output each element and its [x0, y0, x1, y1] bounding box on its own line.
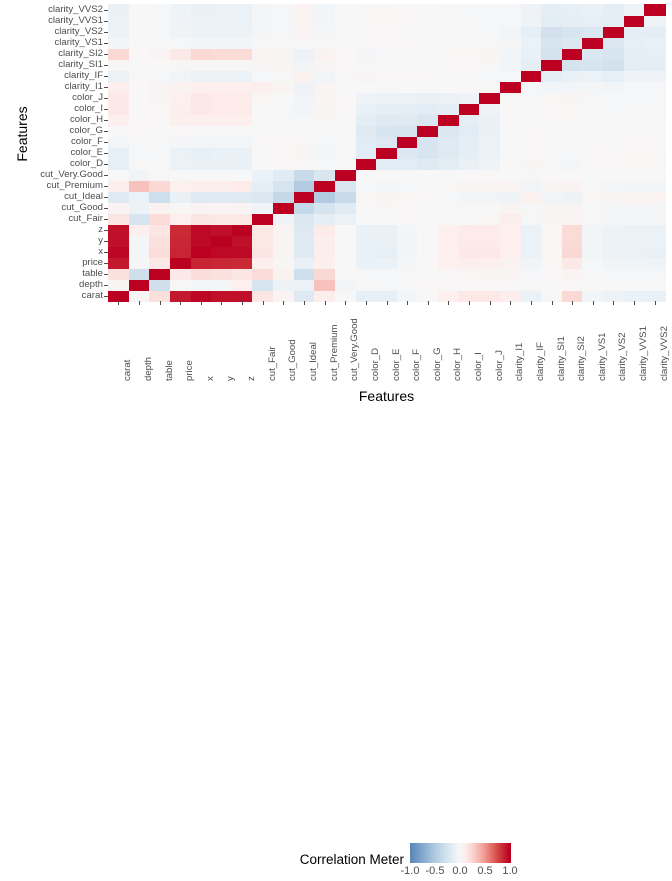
x-axis-tick-mark	[283, 301, 284, 305]
x-axis-tick-mark	[221, 301, 222, 305]
legend-tick-label: 1.0	[495, 865, 525, 877]
x-axis-tick-mark	[510, 301, 511, 305]
x-axis-tick-label: z	[246, 376, 257, 381]
legend-title: Correlation Meter	[192, 852, 404, 867]
x-axis-tick-mark	[242, 301, 243, 305]
x-axis-tick-label: clarity_SI1	[556, 336, 567, 381]
x-axis-tick-label: price	[184, 360, 195, 381]
x-axis-tick-mark	[531, 301, 532, 305]
legend: Correlation Meter -1.0-0.50.00.51.0	[0, 415, 672, 475]
x-axis-tick-label: cut_Fair	[267, 346, 278, 381]
x-axis-tick-label: color_E	[391, 348, 402, 381]
x-axis-tick-label: clarity_I1	[514, 343, 525, 381]
x-axis-tick-mark	[655, 301, 656, 305]
x-axis-tick-label: clarity_VS1	[597, 332, 608, 381]
x-axis-tick-label: x	[205, 376, 216, 381]
legend-color-segment	[509, 843, 511, 863]
legend-tick-labels: -1.0-0.50.00.51.0	[380, 865, 540, 881]
x-axis-tick-mark	[325, 301, 326, 305]
x-axis-tick-label: color_D	[370, 348, 381, 381]
x-axis-tick-label: color_H	[452, 348, 463, 381]
x-axis-tick-mark	[345, 301, 346, 305]
x-axis-tick-mark	[613, 301, 614, 305]
x-axis-tick-mark	[448, 301, 449, 305]
x-axis-tick-mark	[304, 301, 305, 305]
x-axis-tick-label: clarity_SI2	[576, 336, 587, 381]
x-axis-tick-mark	[366, 301, 367, 305]
x-axis-tick-mark	[490, 301, 491, 305]
x-axis-tick-mark	[139, 301, 140, 305]
correlation-heatmap-figure: Features caratdepthtablepricexyzcut_Fair…	[0, 0, 672, 480]
x-axis-tick-mark	[180, 301, 181, 305]
x-axis-tick-mark	[201, 301, 202, 305]
x-axis-tick-label: color_I	[473, 352, 484, 381]
x-axis-tick-label: color_F	[411, 349, 422, 381]
x-axis-tick-label: cut_Ideal	[308, 342, 319, 381]
x-axis-tick-label: carat	[122, 360, 133, 381]
x-axis-tick-label: depth	[143, 357, 154, 381]
x-axis-tick-label: clarity_VS2	[617, 332, 628, 381]
x-axis-tick-label: color_J	[494, 350, 505, 381]
x-axis-tick-mark	[428, 301, 429, 305]
x-axis-tick-label: color_G	[432, 347, 443, 381]
x-axis-tick-mark	[407, 301, 408, 305]
x-axis-tick-mark	[634, 301, 635, 305]
x-axis-tick-label: cut_Good	[287, 339, 298, 381]
x-axis-tick-mark	[160, 301, 161, 305]
x-axis-tick-mark	[263, 301, 264, 305]
x-axis-tick-label: clarity_VVS2	[659, 326, 670, 381]
x-axis-tick-label: table	[164, 360, 175, 381]
x-axis-tick-mark	[552, 301, 553, 305]
x-axis-tick-mark	[593, 301, 594, 305]
x-axis-tick-label: cut_Very.Good	[349, 318, 360, 381]
x-axis-tick-mark	[469, 301, 470, 305]
x-axis-tick-label: clarity_VVS1	[638, 326, 649, 381]
x-axis-tick-mark	[118, 301, 119, 305]
x-axis-tick-label: cut_Premium	[329, 324, 340, 381]
legend-colorbar	[410, 843, 510, 863]
x-axis-tick-container: caratdepthtablepricexyzcut_Faircut_Goodc…	[0, 0, 672, 480]
x-axis-title: Features	[108, 388, 665, 404]
x-axis-tick-label: y	[225, 376, 236, 381]
x-axis-tick-label: clarity_IF	[535, 342, 546, 381]
x-axis-tick-mark	[387, 301, 388, 305]
x-axis-tick-mark	[572, 301, 573, 305]
